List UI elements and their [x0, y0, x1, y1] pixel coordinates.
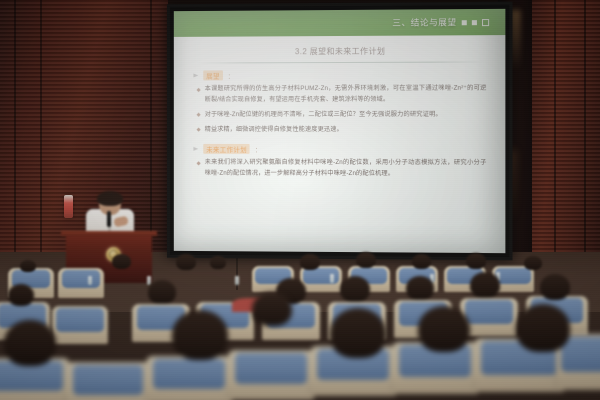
- bullet-text: 未来我们将深入研究聚氨酯自修复材料中咪唑-Zn的配位数，采用小分子动态模拟方法，…: [205, 158, 487, 180]
- audience-head: [466, 253, 486, 269]
- water-bottle: [88, 276, 92, 285]
- audience-head: [406, 276, 434, 300]
- audience-head: [112, 254, 131, 269]
- bullet-item: 本课题研究所得的仿生高分子材料PUMZ-Zn，无需外界环境刺激，可在室温下通过咪…: [197, 84, 491, 106]
- section-colon: ：: [228, 70, 234, 80]
- audience-head: [418, 306, 470, 352]
- microphone-icon: [107, 211, 111, 227]
- bullet-dot-icon: [197, 128, 200, 132]
- seat: [52, 306, 108, 344]
- screen-surface: 三、结论与展望 3.2 展望和未来工作计划 展望 ：: [174, 9, 506, 253]
- section-heading: 未来工作计划 ：: [193, 144, 491, 154]
- section-colon: ：: [255, 144, 261, 154]
- audience-head: [20, 260, 36, 272]
- bullet-item: 未来我们将深入研究聚氨酯自修复材料中咪唑-Zn的配位数，采用小分子动态模拟方法，…: [197, 158, 491, 180]
- section-label: 未来工作计划: [203, 144, 250, 154]
- audience-head: [300, 254, 320, 270]
- bullet-item: 精益求精，细微调控使得自修复性能速度更迅速。: [197, 124, 491, 135]
- audience-head: [340, 276, 370, 302]
- projection-screen: 三、结论与展望 3.2 展望和未来工作计划 展望 ：: [167, 2, 513, 261]
- audience-head: [516, 304, 570, 352]
- header-marker-outline-icon: [482, 19, 489, 26]
- arrow-icon: [193, 147, 198, 151]
- bullet-text: 精益求精，细微调控使得自修复性能速度更迅速。: [205, 125, 343, 136]
- audience-head: [8, 284, 34, 306]
- section-label: 展望: [203, 70, 222, 80]
- section-heading: 展望 ：: [193, 69, 491, 80]
- slide-header-title: 三、结论与展望: [392, 16, 456, 28]
- arrow-icon: [193, 73, 198, 77]
- slide-body: 3.2 展望和未来工作计划 展望 ： 本课题研究所得的仿生高分子材料PUMZ-Z…: [174, 35, 506, 253]
- audience-head: [330, 308, 386, 358]
- header-marker-filled-icon: [472, 20, 477, 25]
- audience-head: [356, 252, 376, 268]
- audience: [0, 262, 600, 400]
- audience-head: [172, 310, 228, 360]
- screenshot-root: 三、结论与展望 3.2 展望和未来工作计划 展望 ：: [0, 0, 600, 400]
- slide-title: 3.2 展望和未来工作计划: [191, 45, 491, 57]
- audience-head: [252, 292, 292, 326]
- presentation-slide: 三、结论与展望 3.2 展望和未来工作计划 展望 ：: [174, 9, 506, 253]
- bullet-dot-icon: [197, 161, 200, 165]
- audience-head: [524, 256, 542, 270]
- water-bottle: [235, 276, 239, 285]
- bullet-item: 对于咪唑-Zn配位键的机理尚不清晰，二配位或三配位？至今无强说服力的研究证明。: [197, 109, 491, 120]
- audience-head: [4, 320, 56, 366]
- glasses-icon: [102, 202, 118, 206]
- seat: [66, 362, 150, 400]
- audience-head: [176, 254, 196, 270]
- bullet-dot-icon: [197, 113, 200, 117]
- water-bottle: [330, 274, 334, 283]
- seat: [146, 356, 232, 400]
- seat: [58, 268, 104, 298]
- header-marker-filled-icon: [462, 20, 467, 25]
- seat: [228, 350, 314, 400]
- slide-header-band: 三、结论与展望: [174, 9, 506, 37]
- bullet-dot-icon: [197, 87, 200, 91]
- audience-head: [540, 274, 570, 300]
- audience-head: [210, 256, 226, 269]
- bullet-text: 对于咪唑-Zn配位键的机理尚不清晰，二配位或三配位？至今无强说服力的研究证明。: [205, 110, 442, 121]
- audience-head: [148, 280, 176, 304]
- auditorium-room: 三、结论与展望 3.2 展望和未来工作计划 展望 ：: [0, 0, 600, 400]
- title-divider: [197, 61, 485, 63]
- audience-head: [412, 254, 431, 269]
- fire-extinguisher: [64, 195, 73, 218]
- bullet-text: 本课题研究所得的仿生高分子材料PUMZ-Zn，无需外界环境刺激，可在室温下通过咪…: [205, 84, 487, 106]
- podium-top: [61, 231, 157, 236]
- audience-head: [470, 272, 500, 298]
